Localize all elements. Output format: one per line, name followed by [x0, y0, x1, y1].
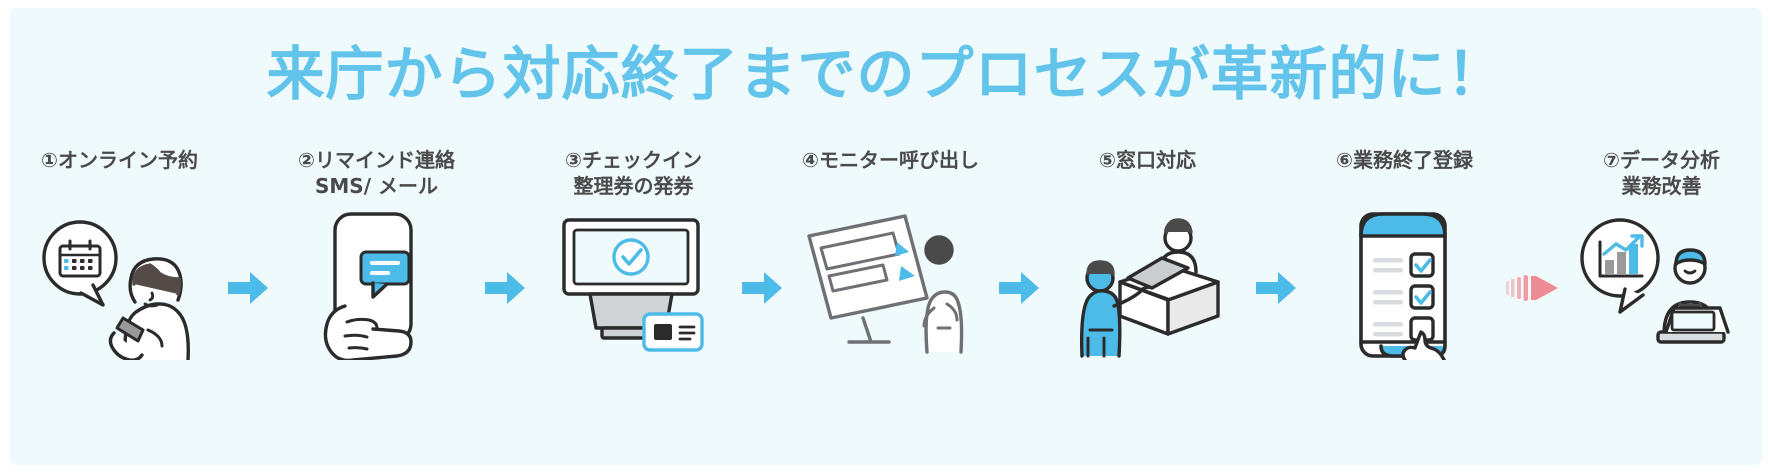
- arrow-right-icon: [1254, 268, 1298, 308]
- flow-step-6: ⑥業務終了登録: [1307, 148, 1502, 360]
- arrow-right-motion-icon: [1506, 268, 1560, 308]
- flow-step-7: ⑦データ分析 業務改善: [1564, 148, 1759, 360]
- counter-staff-visitor-icon: [1058, 210, 1238, 360]
- arrow-right-icon: [740, 268, 784, 308]
- flow-step-4-label: ④モニター呼び出し: [802, 148, 979, 204]
- flow-step-3-line1: ③チェックイン: [565, 148, 702, 172]
- flow-step-2-line2: SMS/ メール: [298, 174, 455, 200]
- flow-step-4: ④モニター呼び出し: [793, 148, 988, 360]
- arrow-right-icon: [483, 268, 527, 308]
- infographic-root: 来庁から対応終了までのプロセスが革新的に！ ①オンライン予約: [0, 0, 1772, 473]
- flow-step-3: ③チェックイン 整理券の発券: [536, 148, 731, 360]
- flow-step-7-label: ⑦データ分析 業務改善: [1603, 148, 1720, 204]
- process-flow: ①オンライン予約: [22, 148, 1752, 388]
- person-smartphone-calendar-bubble-icon: [30, 210, 210, 360]
- arrow-right-icon: [226, 268, 270, 308]
- flow-arrow-5: [1245, 148, 1307, 308]
- flow-step-2-label: ②リマインド連絡 SMS/ メール: [298, 148, 455, 204]
- flow-step-2: ②リマインド連絡 SMS/ メール: [279, 148, 474, 360]
- arrow-right-icon: [997, 268, 1041, 308]
- flow-step-1: ①オンライン予約: [22, 148, 217, 360]
- flow-step-1-label: ①オンライン予約: [41, 148, 198, 204]
- flow-step-6-line1: ⑥業務終了登録: [1336, 148, 1473, 172]
- flow-arrow-2: [474, 148, 536, 308]
- flow-step-7-line2: 業務改善: [1603, 174, 1720, 200]
- flow-step-6-label: ⑥業務終了登録: [1336, 148, 1473, 204]
- kiosk-checkmark-ticket-icon: [544, 210, 724, 360]
- infographic-panel: 来庁から対応終了までのプロセスが革新的に！ ①オンライン予約: [10, 8, 1762, 465]
- flow-step-3-label: ③チェックイン 整理券の発券: [565, 148, 702, 204]
- analytics-chart-bubble-worker-icon: [1572, 210, 1752, 360]
- flow-arrow-3: [731, 148, 793, 308]
- monitor-call-display-person-icon: [801, 210, 981, 360]
- flow-step-5-label: ⑤窓口対応: [1099, 148, 1196, 204]
- hand-holding-phone-message-icon: [287, 210, 467, 360]
- flow-step-2-line1: ②リマインド連絡: [298, 148, 455, 172]
- flow-step-5: ⑤窓口対応: [1050, 148, 1245, 360]
- flow-step-3-line2: 整理券の発券: [565, 174, 702, 200]
- flow-arrow-1: [217, 148, 279, 308]
- flow-step-1-line1: ①オンライン予約: [41, 148, 198, 172]
- flow-step-7-line1: ⑦データ分析: [1603, 148, 1720, 172]
- flow-arrow-6: [1502, 148, 1564, 308]
- page-title: 来庁から対応終了までのプロセスが革新的に！: [10, 44, 1762, 105]
- flow-step-4-line1: ④モニター呼び出し: [802, 148, 979, 172]
- flow-step-5-line1: ⑤窓口対応: [1099, 148, 1196, 172]
- flow-arrow-4: [988, 148, 1050, 308]
- smartphone-checklist-tap-icon: [1315, 210, 1495, 360]
